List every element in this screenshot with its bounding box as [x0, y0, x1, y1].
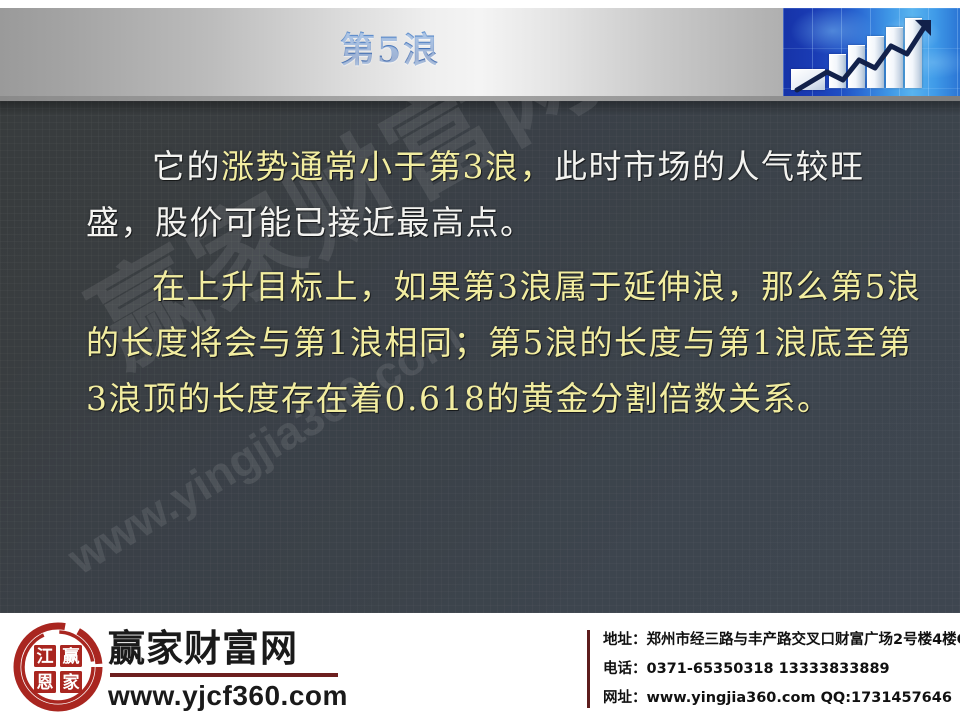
top-white-edge — [0, 0, 960, 8]
footer-vertical-divider — [587, 630, 590, 708]
phone-value: 0371-65350318 13333833889 — [647, 661, 890, 677]
address-label: 地址： — [603, 632, 647, 648]
contact-info-block: 地址：郑州市经三路与丰产路交叉口财富广场2号楼4楼C户 电话：0371-6535… — [603, 626, 960, 713]
slide-body: 赢家财富网 www.yingjia360.com 它的涨势通常小于第3浪，此时市… — [0, 101, 960, 613]
phone-label: 电话： — [603, 661, 647, 677]
address-value: 郑州市经三路与丰产路交叉口财富广场2号楼4楼C户 — [647, 632, 960, 648]
paragraph-2: 在上升目标上，如果第3浪属于延伸浪，那么第5浪的长度将会与第1浪相同；第5浪的长… — [86, 259, 926, 427]
slide-title: 第5浪 — [0, 22, 780, 73]
website-value[interactable]: www.yingjia360.com QQ:1731457646 — [647, 690, 952, 706]
company-seal-logo: 江 赢 恩 家 — [12, 621, 104, 713]
contact-line-address: 地址：郑州市经三路与丰产路交叉口财富广场2号楼4楼C户 — [603, 626, 960, 655]
seal-char-1: 江 — [37, 647, 54, 667]
contact-line-website: 网址：www.yingjia360.com QQ:1731457646 — [603, 684, 960, 713]
slide-content: 它的涨势通常小于第3浪，此时市场的人气较旺盛，股价可能已接近最高点。 在上升目标… — [86, 139, 926, 435]
p1-run-1: 它的 — [152, 147, 221, 186]
p1-run-2: 涨势通常小于第3浪， — [221, 147, 554, 186]
website-label: 网址： — [603, 690, 647, 706]
body-top-shadow — [0, 101, 960, 115]
brand-block: 赢家财富网 www.yjcf360.com — [108, 627, 358, 712]
brand-website-url[interactable]: www.yjcf360.com — [108, 680, 358, 712]
paragraph-1: 它的涨势通常小于第3浪，此时市场的人气较旺盛，股价可能已接近最高点。 — [86, 139, 926, 251]
p2-run-1: 在上升目标上，如果第3浪属于延伸浪，那么第5浪的长度将会与第1浪相同；第5浪的长… — [86, 267, 922, 418]
seal-char-2: 赢 — [63, 646, 80, 667]
financial-growth-bar-chart-image — [783, 8, 960, 96]
contact-line-phone: 电话：0371-65350318 13333833889 — [603, 655, 960, 684]
presentation-slide: 第5浪 赢家财富网 www.yingjia360.com 它的涨势通常小于第3浪… — [0, 0, 960, 720]
seal-char-3: 恩 — [37, 673, 54, 693]
seal-char-4: 家 — [63, 672, 80, 693]
brand-name: 赢家财富网 — [108, 627, 358, 671]
brand-divider-rule — [110, 673, 338, 677]
upward-trend-arrow-icon — [783, 8, 960, 96]
